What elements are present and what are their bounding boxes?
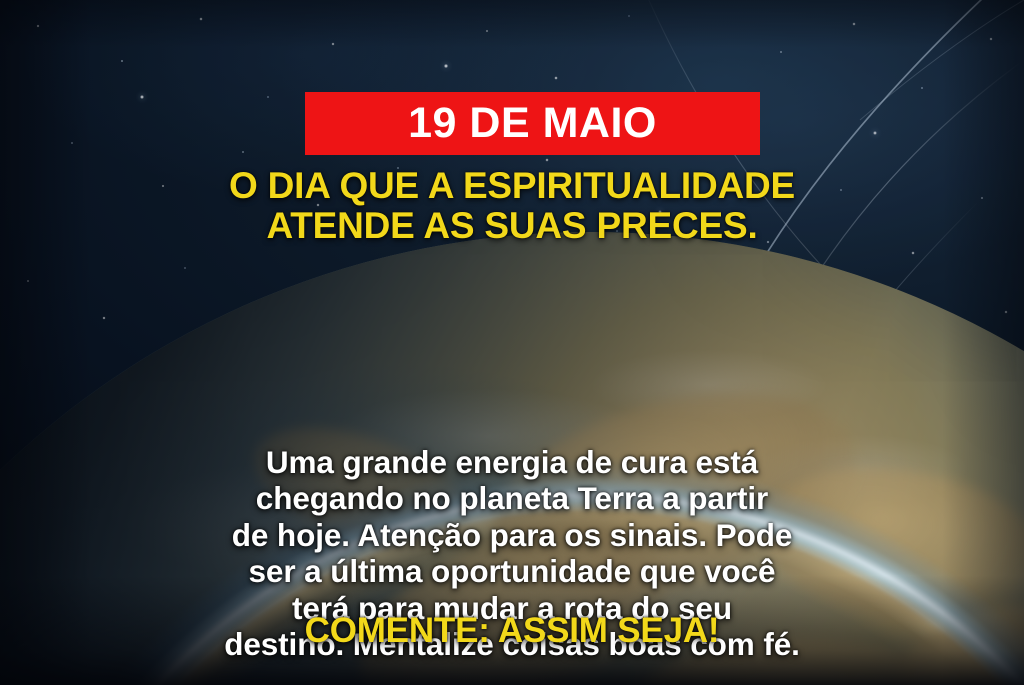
- date-banner-text: 19 DE MAIO: [408, 102, 657, 145]
- date-banner: 19 DE MAIO: [305, 92, 760, 155]
- headline-line-2: ATENDE AS SUAS PRECES.: [0, 206, 1024, 246]
- body-line-2: chegando no planeta Terra a partir: [50, 480, 974, 516]
- headline-line-1: O DIA QUE A ESPIRITUALIDADE: [0, 166, 1024, 206]
- body-line-3: de hoje. Atenção para os sinais. Pode: [50, 517, 974, 553]
- body-line-1: Uma grande energia de cura está: [50, 444, 974, 480]
- call-to-action-text: COMENTE: ASSIM SEJA!: [0, 613, 1024, 648]
- headline: O DIA QUE A ESPIRITUALIDADE ATENDE AS SU…: [0, 166, 1024, 247]
- poster-content: 19 DE MAIO O DIA QUE A ESPIRITUALIDADE A…: [0, 0, 1024, 685]
- inspirational-poster: 19 DE MAIO O DIA QUE A ESPIRITUALIDADE A…: [0, 0, 1024, 685]
- body-line-4: ser a última oportunidade que você: [50, 553, 974, 589]
